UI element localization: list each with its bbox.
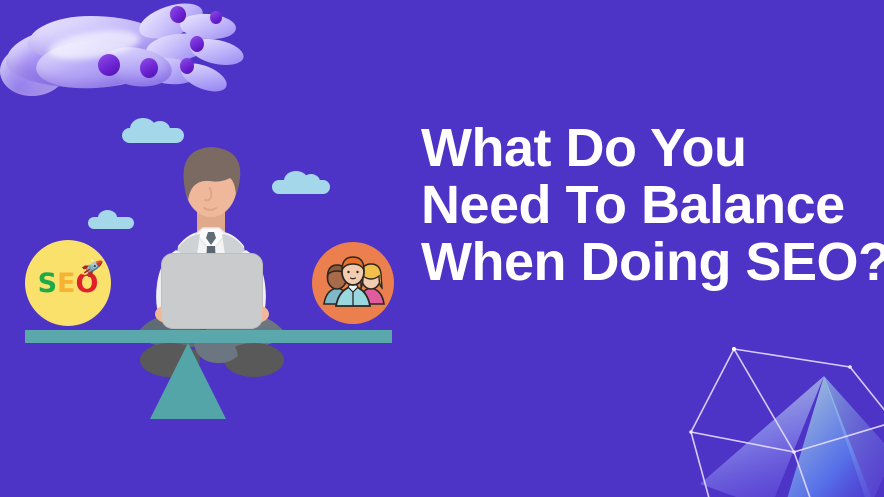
cube-vertex [848,365,852,369]
headline-line-2: Need To Balance [421,177,873,234]
seo-badge-text: SEO🚀 [38,270,99,297]
wireframe-cube [664,324,884,497]
robot-hand-joint-5 [180,58,194,74]
robot-hand-joint-1 [98,54,120,76]
robot-hand-joint-4 [190,36,204,52]
cube-vertex [792,450,796,454]
laptop-lid [162,254,262,328]
seo-letter-s: S [38,270,57,297]
robot-hand-joint-6 [210,11,222,24]
page-title: What Do You Need To Balance When Doing S… [421,120,873,291]
seo-letter-e: E [57,270,75,297]
seesaw-beam [25,330,392,343]
cube-vertex [689,430,693,434]
robot-hand-graphic [0,0,246,118]
wireframe-cube-graphic [664,324,884,497]
audience-badge [312,242,394,324]
people-group-icon [312,242,394,324]
rocket-icon: 🚀 [80,258,104,279]
headline-line-3: When Doing SEO? [421,234,873,291]
seo-letter-o: O🚀 [75,270,98,297]
seesaw-fulcrum [150,343,226,419]
robot-hand-joint-2 [140,58,158,78]
cube-vertex [732,347,736,351]
headline-line-1: What Do You [421,120,873,177]
seo-badge: SEO🚀 [25,240,111,326]
seo-balance-banner: SEO🚀 [0,0,884,497]
